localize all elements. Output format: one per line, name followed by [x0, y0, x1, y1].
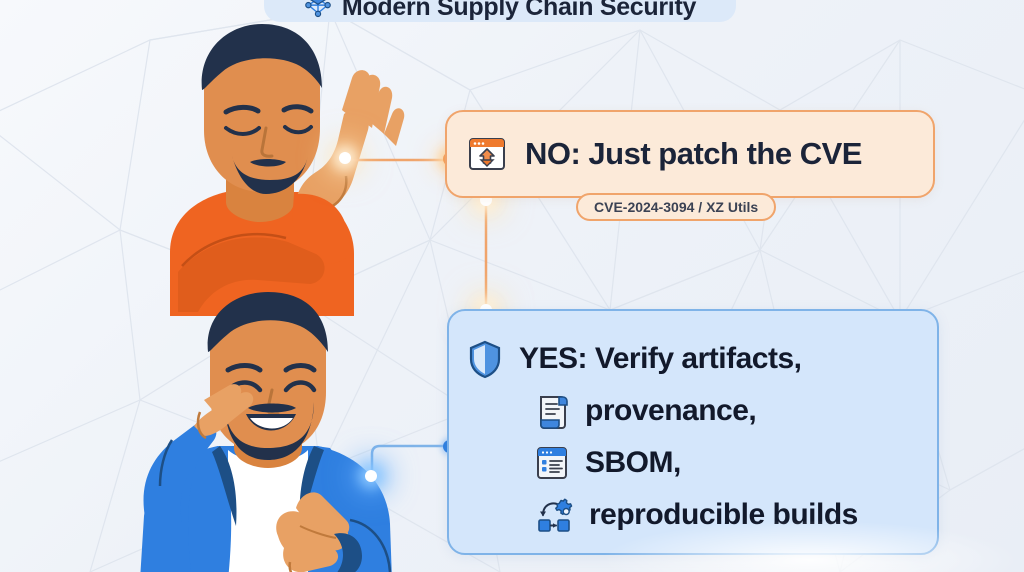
accept-connector-start-dot	[365, 470, 377, 482]
supply-chain-network-icon	[304, 0, 332, 20]
scroll-document-icon	[535, 392, 569, 430]
accept-line-sbom: SBOM,	[467, 437, 917, 489]
card-accept[interactable]: YES: Verify artifacts, provenance,	[447, 309, 939, 555]
reject-to-accept-connector	[479, 196, 493, 314]
character-reject	[108, 16, 408, 316]
browser-patch-upload-icon	[465, 132, 509, 176]
cve-badge: CVE-2024-3094 / XZ Utils	[576, 193, 776, 221]
card-reject[interactable]: NO: Just patch the CVE	[445, 110, 935, 198]
accept-line-reproducible: reproducible builds	[467, 489, 917, 541]
page-title-pill: Modern Supply Chain Security	[264, 0, 736, 22]
reject-connector-start-dot	[339, 152, 351, 164]
page-title: Modern Supply Chain Security	[342, 0, 696, 20]
character-accept	[100, 290, 430, 572]
infographic-canvas: NO: Just patch the CVE CVE-2024-3094 / X…	[0, 0, 1024, 572]
accept-line-verify: YES: Verify artifacts,	[467, 333, 917, 385]
reproducible-build-gear-icon	[535, 497, 573, 533]
accept-label-provenance: provenance,	[585, 394, 756, 428]
accept-label-sbom: SBOM,	[585, 446, 681, 480]
card-reject-label: NO: Just patch the CVE	[525, 136, 862, 172]
sbom-list-window-icon	[535, 445, 569, 481]
accept-label-reproducible: reproducible builds	[589, 498, 858, 532]
accept-line-provenance: provenance,	[467, 385, 917, 437]
accept-label-verify: YES: Verify artifacts,	[519, 342, 801, 376]
shield-icon	[467, 339, 503, 379]
